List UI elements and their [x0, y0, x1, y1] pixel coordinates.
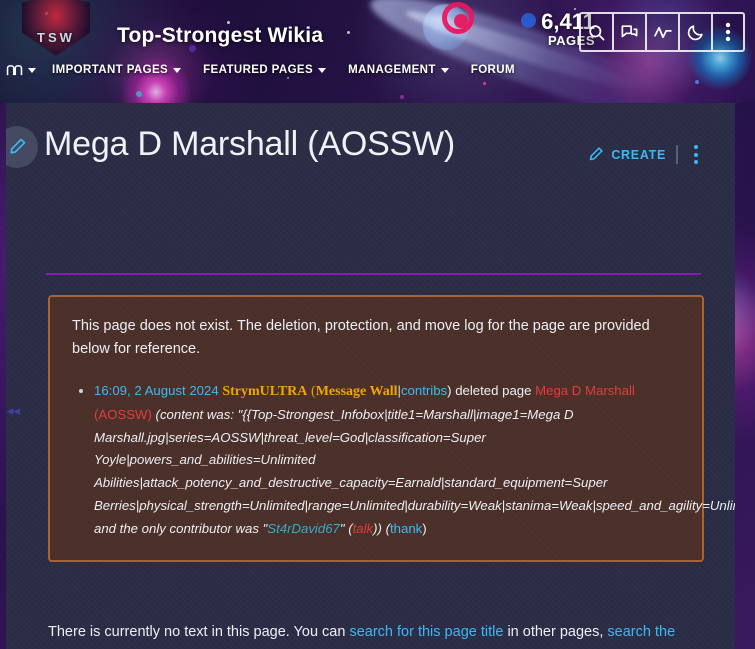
nav-label: FEATURED PAGES — [203, 64, 313, 76]
talk-link[interactable]: talk — [353, 521, 374, 536]
site-banner: TSW Top-Strongest Wikia 6,411 PAGES — [0, 0, 755, 103]
contribs-link[interactable]: contribs — [401, 383, 447, 398]
notice-lead-text: This page does not exist. The deletion, … — [72, 315, 680, 362]
activity-pulse-icon[interactable] — [647, 14, 680, 50]
log-action-text: deleted page — [452, 383, 536, 398]
comment-open: (content was: " — [152, 407, 242, 422]
page-actions: CREATE — [587, 143, 704, 166]
main-navigation: IMPORTANT PAGES FEATURED PAGES MANAGEMEN… — [0, 56, 755, 84]
nav-label: FORUM — [471, 64, 515, 76]
chevron-down-icon — [28, 68, 36, 73]
nav-item-important-pages[interactable]: IMPORTANT PAGES — [52, 64, 181, 76]
rail-collapse-arrow-icon[interactable]: ◂◂ — [7, 403, 20, 419]
header-icon-bar — [579, 12, 745, 52]
dot — [694, 160, 698, 164]
kebab-menu-icon[interactable] — [713, 14, 743, 50]
log-entry: 16:09, 2 August 2024 StrymULTRA (Message… — [94, 380, 680, 540]
deletion-comment: {{Top-Strongest_Infobox|title1=Marshall|… — [94, 407, 735, 513]
chevron-down-icon — [173, 68, 181, 73]
nav-home[interactable] — [6, 64, 36, 77]
page-header: Mega D Marshall (AOSSW) CREATE — [44, 125, 704, 166]
empty-page-message: There is currently no text in this page.… — [48, 620, 688, 649]
action-divider — [676, 145, 678, 164]
page-does-not-exist-notice: This page does not exist. The deletion, … — [48, 295, 704, 562]
edit-page-fab-button[interactable] — [6, 126, 38, 168]
page-title: Mega D Marshall (AOSSW) — [44, 125, 455, 164]
log-user-link[interactable]: StrymULTRA — [222, 384, 307, 399]
after-talk: )) ( — [373, 521, 390, 536]
chevron-down-icon — [441, 68, 449, 73]
title-underline — [46, 273, 701, 275]
article-content-area: ◂◂ Mega D Marshall (AOSSW) CREATE T — [6, 103, 735, 649]
search-page-title-link[interactable]: search for this page title — [349, 624, 503, 640]
dot — [694, 153, 698, 157]
close-paren: ) — [422, 521, 426, 536]
create-button[interactable]: CREATE — [587, 146, 666, 163]
discussions-icon[interactable] — [614, 14, 647, 50]
star-icon — [136, 91, 142, 97]
comment-tail: " ( — [340, 521, 353, 536]
page-more-menu-icon[interactable] — [688, 143, 704, 166]
message-part-1: There is currently no text in this page.… — [48, 624, 349, 640]
log-timestamp-link[interactable]: 16:09, 2 August 2024 — [94, 383, 219, 398]
dot — [694, 145, 698, 149]
star-icon — [400, 95, 404, 99]
thank-link[interactable]: thank — [390, 521, 422, 536]
search-icon[interactable] — [581, 14, 614, 50]
contributor-link[interactable]: St4rDavid67 — [267, 521, 340, 536]
dark-mode-moon-icon[interactable] — [680, 14, 713, 50]
chevron-down-icon — [318, 68, 326, 73]
nav-label: IMPORTANT PAGES — [52, 64, 168, 76]
message-wall-link[interactable]: Message Wall — [316, 384, 398, 399]
nav-item-featured-pages[interactable]: FEATURED PAGES — [203, 64, 326, 76]
nav-item-management[interactable]: MANAGEMENT — [348, 64, 449, 76]
deletion-log-list: 16:09, 2 August 2024 StrymULTRA (Message… — [94, 380, 680, 540]
nav-label: MANAGEMENT — [348, 64, 436, 76]
wiki-name[interactable]: Top-Strongest Wikia — [117, 24, 323, 48]
message-part-2: in other pages, — [503, 624, 607, 640]
create-button-label: CREATE — [611, 148, 666, 162]
nav-item-forum[interactable]: FORUM — [471, 64, 515, 76]
